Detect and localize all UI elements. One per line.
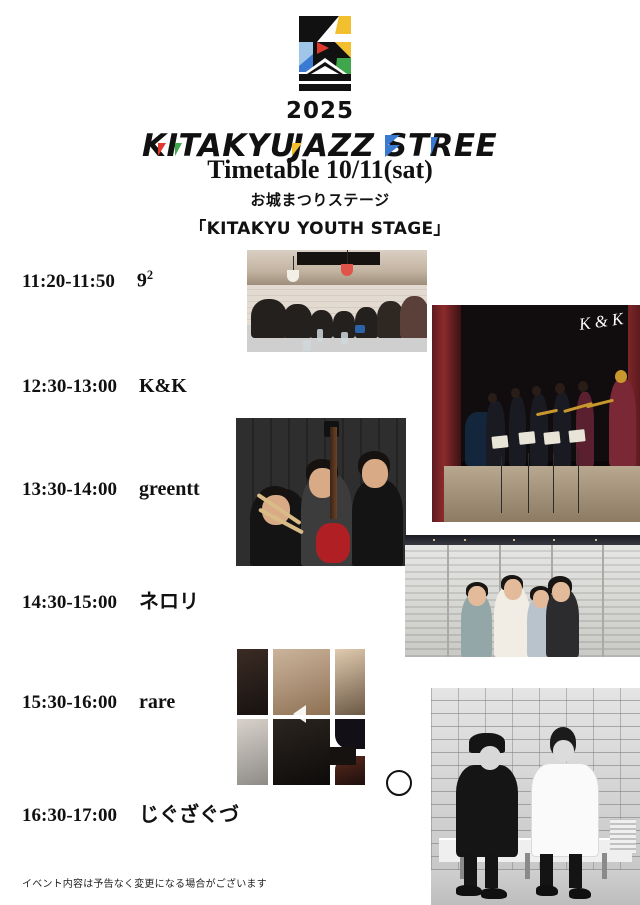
two-on-bench-bw-photo [431,688,640,905]
title-block: Timetable 10/11(sat) お城まつりステージ 「KITAKYU … [0,155,640,239]
logo-header: 2025 KITAKYU JAZZ STREET [0,14,640,163]
schedule-row: 12:30-13:00 K&K [22,375,282,398]
schedule-band: ネロリ [139,585,199,614]
schedule-band: greentt [139,478,200,501]
big-band-stage-photo: K & K [432,305,640,522]
disclaimer-note: イベント内容は予告なく変更になる場合がございます [22,875,267,890]
poster-page: 2025 KITAKYU JAZZ STREET Timetable 10/11… [0,0,640,905]
schedule-band: rare [139,691,175,714]
page-title: Timetable 10/11(sat) [0,155,640,185]
stage-subtitle: お城まつりステージ [0,189,640,210]
schedule-band: じぐざぐづ [139,798,239,827]
stage-name: 「KITAKYU YOUTH STAGE」 [0,214,640,239]
collage-photo [233,643,385,791]
schedule-band: 92 [137,268,153,293]
schedule-time: 13:30-14:00 [22,479,117,501]
group-at-table-photo [247,250,427,352]
schedule-time: 12:30-13:00 [22,376,117,398]
collage-cell [335,649,365,715]
schedule-row: 15:30-16:00 rare [22,691,282,714]
four-members-wall-photo [405,535,640,657]
schedule-row: 11:20-11:50 92 [22,268,282,293]
kitakyu-jazz-street-logo-icon [277,14,363,98]
collage-cell [335,719,365,749]
circle-outline-icon [386,770,412,796]
schedule-time: 15:30-16:00 [22,692,117,714]
schedule-row: 14:30-15:00 ネロリ [22,585,282,614]
collage-cell [237,719,268,785]
schedule-time: 14:30-15:00 [22,592,117,614]
schedule-band: K&K [139,375,187,398]
play-triangle-icon [293,705,306,723]
schedule-row: 13:30-14:00 greentt [22,478,282,501]
logo-year: 2025 [0,100,640,123]
schedule-time: 11:20-11:50 [22,271,115,293]
collage-cell [273,719,330,785]
schedule-time: 16:30-17:00 [22,805,117,827]
schedule-row: 16:30-17:00 じぐざぐづ [22,798,282,827]
